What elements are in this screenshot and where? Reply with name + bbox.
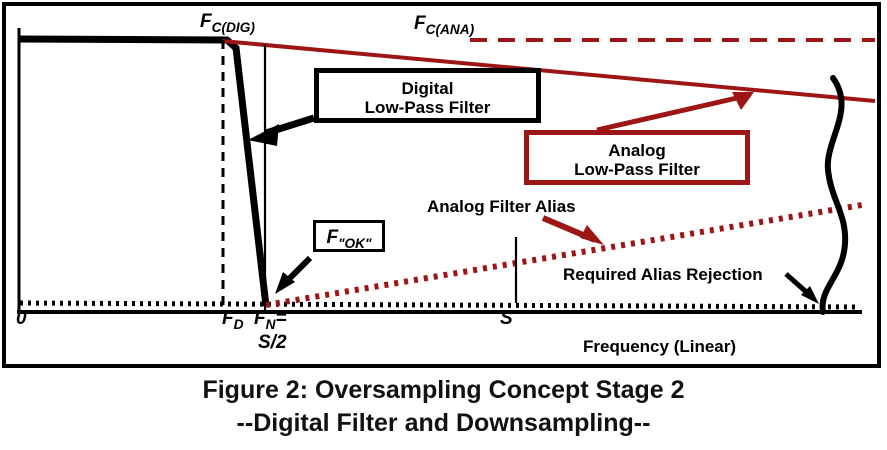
digital-callout-arrow [248, 118, 314, 146]
required-alias-rejection-line [20, 303, 860, 307]
figure-caption: Figure 2: Oversampling Concept Stage 2 -… [0, 374, 887, 439]
callout-digital-lowpass-filter: Digital Low-Pass Filter [314, 68, 541, 123]
f-ok-callout-arrow [275, 258, 310, 294]
annotation-analog-filter-alias: Analog Filter Alias [427, 198, 576, 216]
digital-lowpass-curve [19, 39, 266, 306]
x-axis-title: Frequency (Linear) [583, 338, 736, 356]
analog-filter-alias-arrow [543, 218, 604, 245]
x-tick-fd: FD [222, 309, 243, 332]
annotation-required-alias-rejection: Required Alias Rejection [563, 266, 763, 284]
callout-f-ok: F"OK" [313, 220, 385, 252]
x-tick-zero: 0 [16, 309, 27, 329]
label-fc-dig: FC(DIG) [200, 12, 255, 35]
callout-analog-line2: Low-Pass Filter [529, 160, 745, 179]
callout-digital-line1: Digital [319, 79, 536, 98]
callout-analog-lowpass-filter: Analog Low-Pass Filter [524, 130, 750, 185]
caption-line-1: Figure 2: Oversampling Concept Stage 2 [0, 374, 887, 407]
axis-break-squiggle [823, 78, 846, 312]
x-tick-s: S [500, 309, 513, 329]
x-tick-fn: FN= [254, 309, 287, 332]
caption-line-2: --Digital Filter and Downsampling-- [0, 407, 887, 440]
required-alias-rejection-arrow [786, 274, 819, 304]
figure-container: FC(DIG) FC(ANA) 0 FD FN= S/2 S Frequency… [0, 0, 887, 450]
analog-callout-arrow [597, 92, 754, 130]
x-tick-fn-second-line: S/2 [258, 333, 287, 353]
callout-analog-line1: Analog [529, 141, 745, 160]
callout-digital-line2: Low-Pass Filter [319, 98, 536, 117]
label-fc-ana: FC(ANA) [414, 14, 474, 37]
